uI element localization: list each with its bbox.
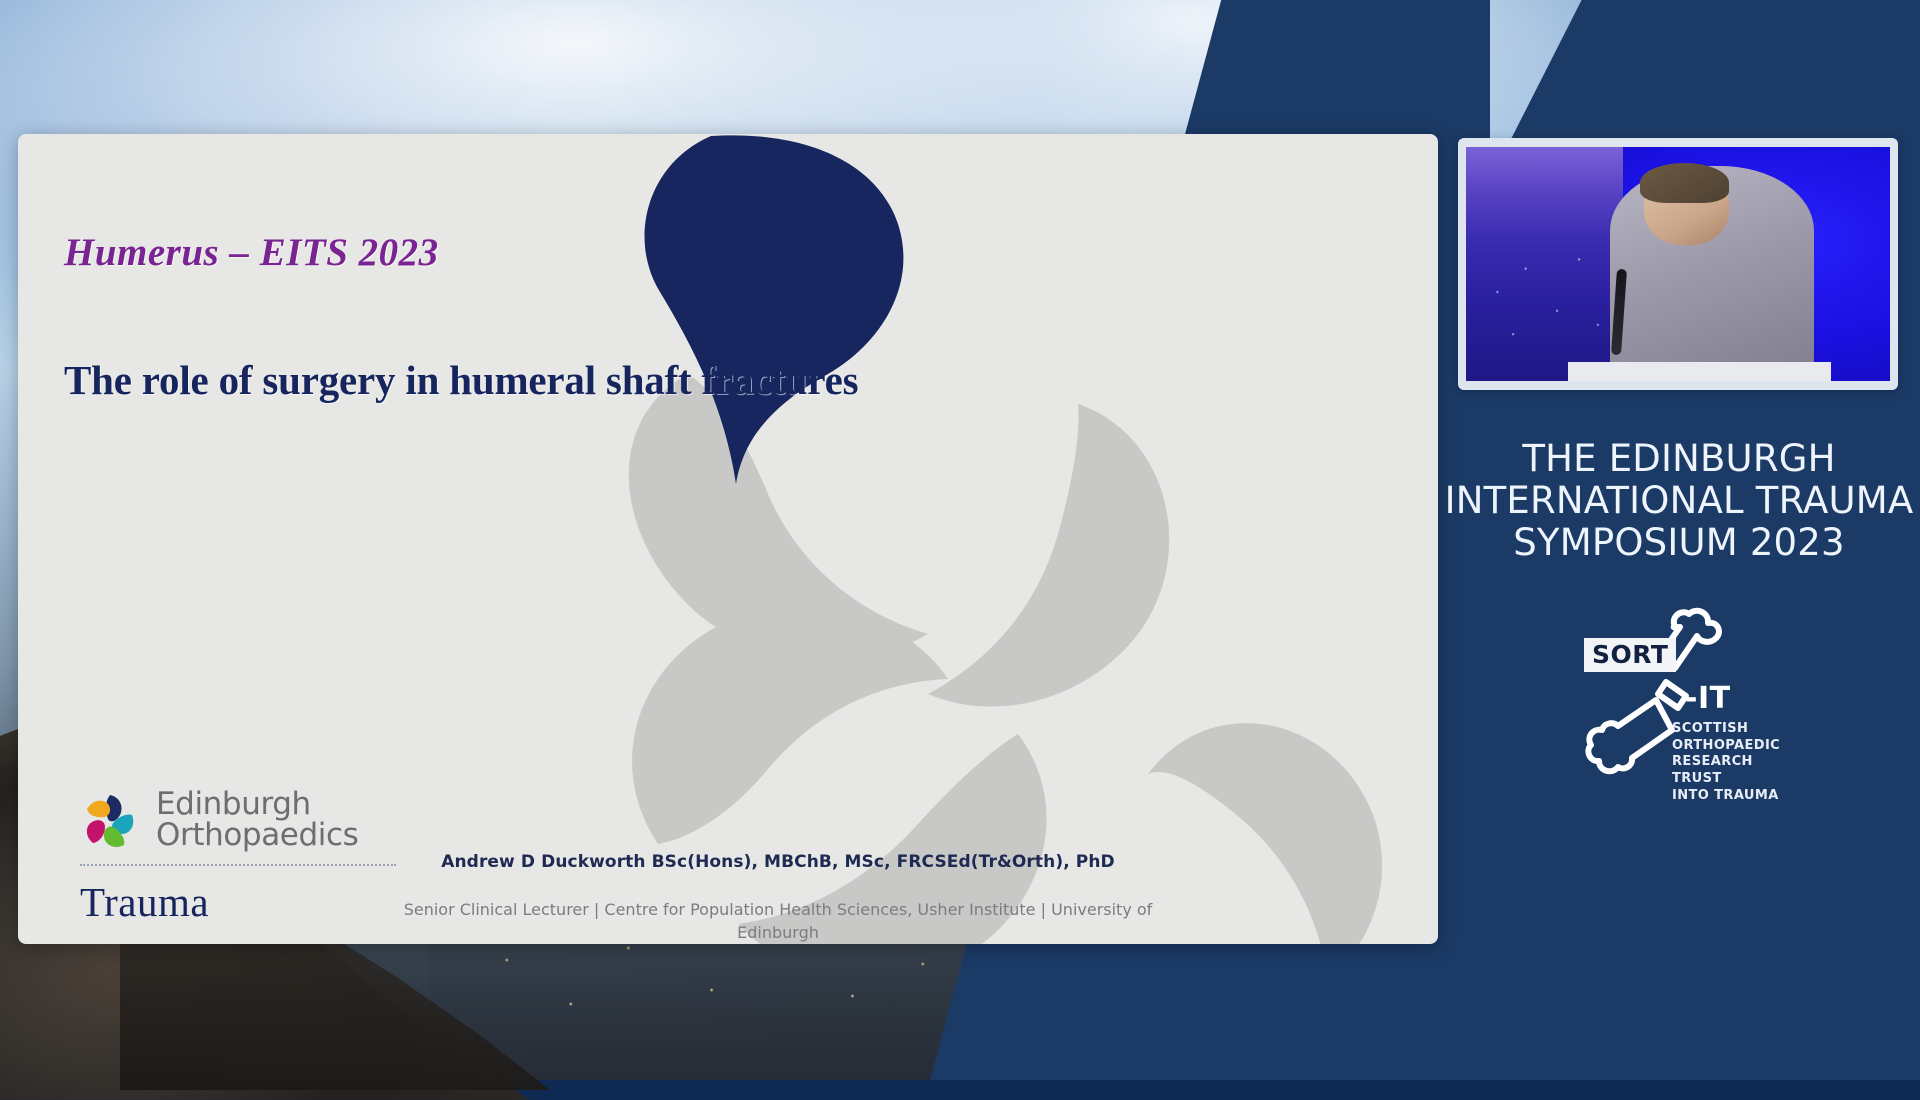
author-roles: Senior Clinical Lecturer | Centre for Po… <box>398 899 1158 944</box>
presentation-slide: Humerus – EITS 2023 The role of surgery … <box>18 134 1438 944</box>
edinburgh-orthopaedics-logo: Edinburgh Orthopaedics Trauma <box>80 789 410 926</box>
sponsor-subtitle-line-2: ORTHOPAEDIC <box>1672 738 1800 755</box>
logo-line-orthopaedics: Orthopaedics <box>156 820 358 851</box>
sponsor-subtitle-line-4: INTO TRAUMA <box>1672 788 1800 805</box>
it-wordmark: -IT <box>1685 681 1731 716</box>
speaker-video-frame[interactable] <box>1458 138 1898 390</box>
author-role-line-1: Senior Clinical Lecturer | Centre for Po… <box>398 899 1158 944</box>
screen-root: Humerus – EITS 2023 The role of surgery … <box>0 0 1920 1080</box>
author-block: Andrew D Duckworth BSc(Hons), MBChB, MSc… <box>398 852 1158 944</box>
video-cityscape-backdrop <box>1466 147 1623 381</box>
pinwheel-logo-icon <box>80 789 142 851</box>
slide-eyebrow: Humerus – EITS 2023 <box>64 230 439 275</box>
author-name: Andrew D Duckworth BSc(Hons), MBChB, MSc… <box>398 852 1158 872</box>
sort-wordmark: SORT <box>1584 638 1676 672</box>
sponsor-subtitle-line-1: SCOTTISH <box>1672 721 1800 738</box>
logo-department-label: Trauma <box>80 878 410 926</box>
logo-divider <box>80 864 396 866</box>
slide-title: The role of surgery in humeral shaft fra… <box>64 356 858 404</box>
event-title-line-2: INTERNATIONAL TRAUMA <box>1440 480 1918 522</box>
event-title: THE EDINBURGH INTERNATIONAL TRAUMA SYMPO… <box>1440 438 1918 563</box>
sponsor-subtitle: SCOTTISH ORTHOPAEDIC RESEARCH TRUST INTO… <box>1672 721 1800 804</box>
speaker-video-feed[interactable] <box>1466 147 1890 381</box>
speaker-hair <box>1640 163 1729 203</box>
logo-line-edinburgh: Edinburgh <box>156 789 358 820</box>
sort-it-logo: SORT -IT SCOTTISH ORTHOPAEDIC RESEARCH T… <box>1570 596 1800 786</box>
sponsor-subtitle-line-3: RESEARCH TRUST <box>1672 754 1800 787</box>
event-title-line-3: SYMPOSIUM 2023 <box>1440 522 1918 564</box>
podium <box>1568 362 1831 381</box>
event-title-line-1: THE EDINBURGH <box>1440 438 1918 480</box>
